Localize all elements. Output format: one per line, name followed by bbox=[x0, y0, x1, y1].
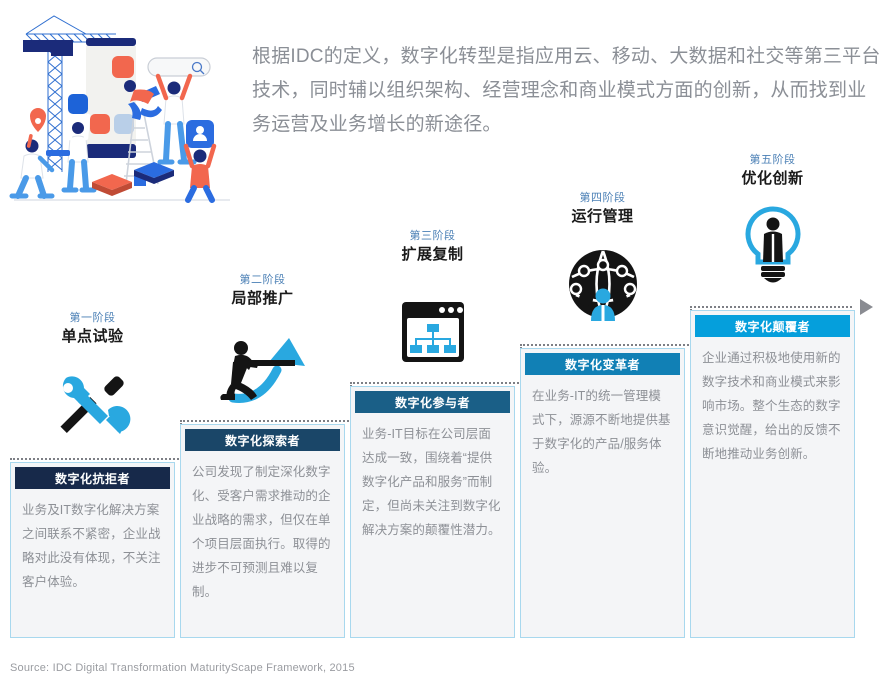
progress-arrow-icon bbox=[860, 299, 873, 315]
card-header-1: 数字化抗拒者 bbox=[15, 467, 170, 489]
card-header-4: 数字化变革者 bbox=[525, 353, 680, 375]
card-body-1: 业务及IT数字化解决方案之间联系不紧密，企业战略对此没有体现，不关注客户体验。 bbox=[11, 489, 174, 604]
maturity-card-4[interactable]: 数字化变革者 在业务-IT的统一管理模式下，源源不断地提供基于数字化的产品/服务… bbox=[520, 348, 685, 638]
card-body-3: 业务-IT目标在公司层面达成一致，围绕着“提供数字化产品和服务”而制定，但尚未关… bbox=[351, 413, 514, 552]
maturity-card-1[interactable]: 数字化抗拒者 业务及IT数字化解决方案之间联系不紧密，企业战略对此没有体现，不关… bbox=[10, 462, 175, 638]
stage-title: 单点试验 bbox=[10, 326, 175, 348]
stage-icon-person-pulling-arrow bbox=[180, 330, 345, 406]
stage-icon-lightbulb-person bbox=[690, 204, 855, 290]
digital-construction-illustration bbox=[8, 4, 236, 212]
card-header-2: 数字化探索者 bbox=[185, 429, 340, 451]
stage-number: 第三阶段 bbox=[350, 228, 515, 244]
stage-number: 第二阶段 bbox=[180, 272, 345, 288]
stage-title: 优化创新 bbox=[690, 168, 855, 190]
stage-title: 运行管理 bbox=[520, 206, 685, 228]
card-header-3: 数字化参与者 bbox=[355, 391, 510, 413]
stage-icon-globe-network-people bbox=[520, 244, 685, 324]
stage-title: 扩展复制 bbox=[350, 244, 515, 266]
card-body-4: 在业务-IT的统一管理模式下，源源不断地提供基于数字化的产品/服务体验。 bbox=[521, 375, 684, 490]
card-body-2: 公司发现了制定深化数字化、受客户需求推动的企业战略的需求，但仅在单个项目层面执行… bbox=[181, 451, 344, 614]
maturity-card-5[interactable]: 数字化颠覆者 企业通过积极地使用新的数字技术和商业模式来影响市场。整个生态的数字… bbox=[690, 310, 855, 638]
stage-number: 第四阶段 bbox=[520, 190, 685, 206]
card-body-5: 企业通过积极地使用新的数字技术和商业模式来影响市场。整个生态的数字意识觉醒，给出… bbox=[691, 337, 854, 476]
intro-paragraph: 根据IDC的定义，数字化转型是指应用云、移动、大数据和社交等第三平台技术，同时辅… bbox=[252, 40, 882, 142]
infographic-canvas: 根据IDC的定义，数字化转型是指应用云、移动、大数据和社交等第三平台技术，同时辅… bbox=[0, 0, 892, 690]
card-header-5: 数字化颠覆者 bbox=[695, 315, 850, 337]
maturity-card-2[interactable]: 数字化探索者 公司发现了制定深化数字化、受客户需求推动的企业战略的需求，但仅在单… bbox=[180, 424, 345, 638]
stage-title: 局部推广 bbox=[180, 288, 345, 310]
stage-icon-browser-org-chart bbox=[350, 296, 515, 368]
maturity-card-3[interactable]: 数字化参与者 业务-IT目标在公司层面达成一致，围绕着“提供数字化产品和服务”而… bbox=[350, 386, 515, 638]
source-note: Source: IDC Digital Transformation Matur… bbox=[10, 662, 355, 674]
stage-number: 第五阶段 bbox=[690, 152, 855, 168]
stage-number: 第一阶段 bbox=[10, 310, 175, 326]
stage-icon-wrench-screwdriver bbox=[10, 372, 175, 442]
